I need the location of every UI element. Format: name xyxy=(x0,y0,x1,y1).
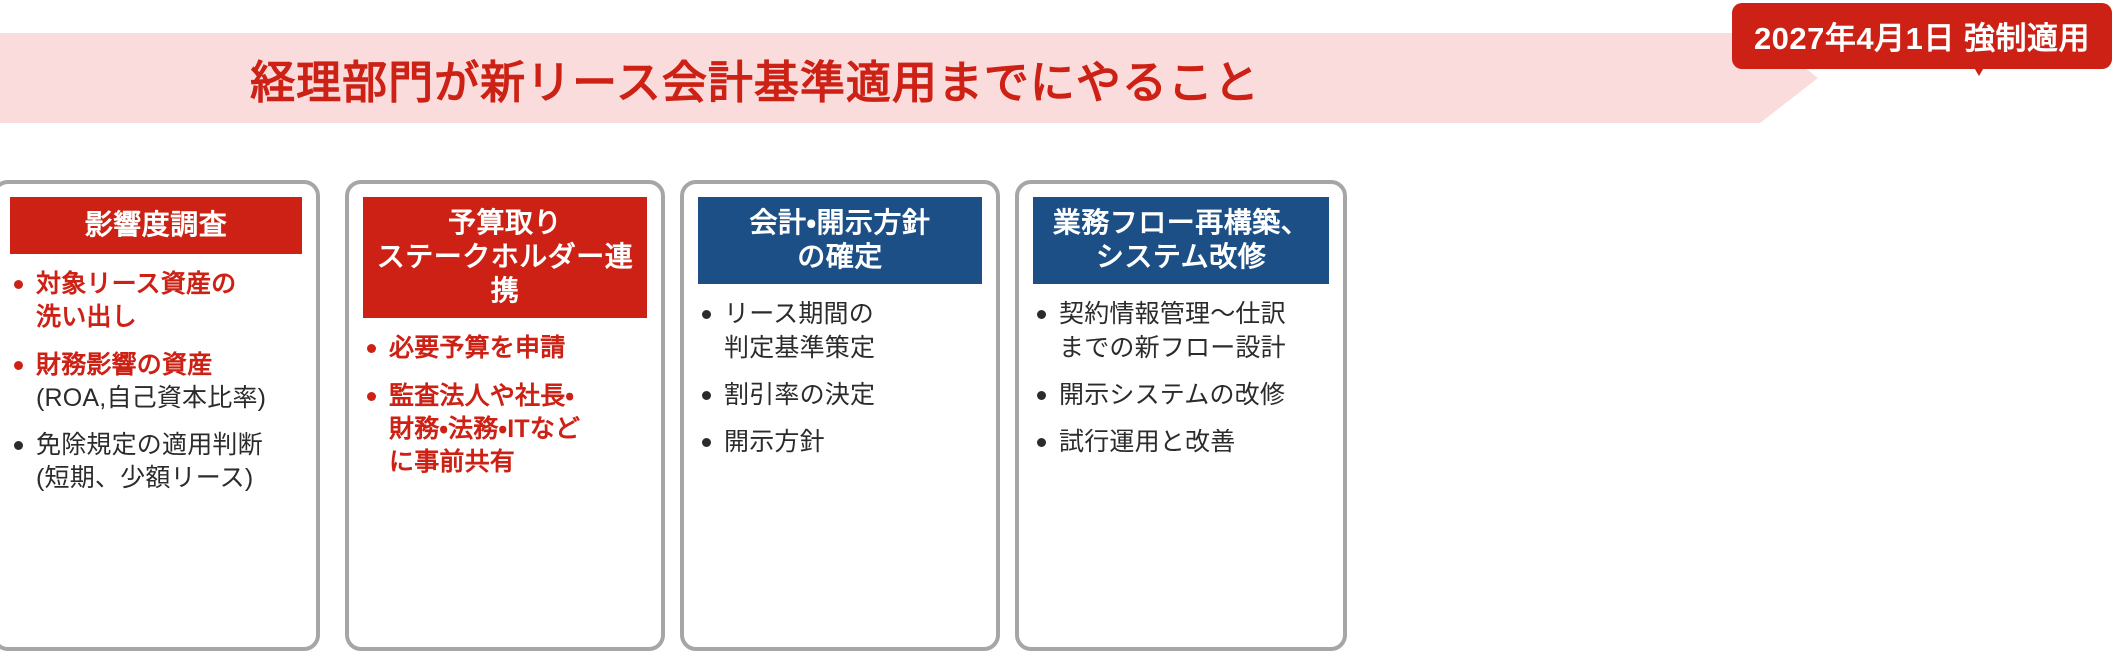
bullet-line: リース期間の xyxy=(724,300,874,328)
list-item: 開示方針 xyxy=(698,426,982,459)
header-banner: 経理部門が新リース会計基準適用までにやること xyxy=(0,33,1818,123)
bullet-subline: (ROA,自己資本比率) xyxy=(36,382,302,415)
card-grid: 影響度調査 対象リース資産の 洗い出し 財務影響の資産 (ROA,自己資本比率)… xyxy=(0,180,2124,663)
card-3-header-line2: の確定 xyxy=(797,241,883,272)
list-item: 契約情報管理～仕訳 までの新フロー設計 xyxy=(1033,298,1329,365)
card-3-header: 会計・開示方針 の確定 xyxy=(698,197,982,284)
list-item: 割引率の決定 xyxy=(698,379,982,412)
card-accounting-disclosure-policy[interactable]: 会計・開示方針 の確定 リース期間の 判定基準策定 割引率の決定 開示方針 xyxy=(680,180,1000,651)
list-item: 必要予算を申請 xyxy=(363,332,647,365)
card-4-header: 業務フロー再構築、 システム改修 xyxy=(1033,197,1329,284)
bullet-line: 割引率の決定 xyxy=(724,381,875,409)
bullet-line: 洗い出し xyxy=(36,303,137,331)
card-workflow-system-revision[interactable]: 業務フロー再構築、 システム改修 契約情報管理～仕訳 までの新フロー設計 開示シ… xyxy=(1015,180,1347,651)
card-impact-assessment[interactable]: 影響度調査 対象リース資産の 洗い出し 財務影響の資産 (ROA,自己資本比率)… xyxy=(0,180,320,651)
bullet-line: 対象リース資産の xyxy=(36,270,236,298)
card-budget-stakeholder[interactable]: 予算取り ステークホルダー連携 必要予算を申請 監査法人や社長・ 財務・法務・I… xyxy=(345,180,665,651)
bullet-line: 財務・法務・ITなど xyxy=(389,415,580,443)
bullet-line: 開示方針 xyxy=(724,428,825,456)
card-3-bullet-list: リース期間の 判定基準策定 割引率の決定 開示方針 xyxy=(698,284,982,459)
bullet-subline: (短期、少額リース) xyxy=(36,464,253,492)
bullet-line: までの新フロー設計 xyxy=(1059,334,1286,362)
bullet-line: 試行運用と改善 xyxy=(1059,428,1235,456)
card-2-header: 予算取り ステークホルダー連携 xyxy=(363,197,647,318)
list-item: 試行運用と改善 xyxy=(1033,426,1329,459)
card-4-bullet-list: 契約情報管理～仕訳 までの新フロー設計 開示システムの改修 試行運用と改善 xyxy=(1033,284,1329,459)
card-1-bullet-list: 対象リース資産の 洗い出し 財務影響の資産 (ROA,自己資本比率) 免除規定の… xyxy=(10,254,302,496)
list-item: 対象リース資産の 洗い出し xyxy=(10,268,302,335)
card-2-bullet-list: 必要予算を申請 監査法人や社長・ 財務・法務・ITなど に事前共有 xyxy=(363,318,647,479)
bullet-line: 判定基準策定 xyxy=(724,334,875,362)
card-4-header-line2: システム改修 xyxy=(1096,241,1266,272)
card-4-header-line1: 業務フロー再構築、 xyxy=(1053,207,1310,238)
list-item: 免除規定の適用判断 (短期、少額リース) xyxy=(10,429,302,496)
list-item: 監査法人や社長・ 財務・法務・ITなど に事前共有 xyxy=(363,380,647,480)
bullet-line: 必要予算を申請 xyxy=(389,334,565,362)
card-3-header-line1: 会計・開示方針 xyxy=(749,207,930,238)
deadline-badge: 2027年4月1日 強制適用 xyxy=(1732,3,2112,69)
bullet-line: 監査法人や社長・ xyxy=(389,382,574,410)
card-2-header-line1: 予算取り xyxy=(448,207,562,238)
page-title: 経理部門が新リース会計基準適用までにやること xyxy=(0,33,1510,123)
list-item: リース期間の 判定基準策定 xyxy=(698,298,982,365)
list-item: 開示システムの改修 xyxy=(1033,379,1329,412)
card-1-header: 影響度調査 xyxy=(10,197,302,254)
list-item: 財務影響の資産 (ROA,自己資本比率) xyxy=(10,349,302,416)
bullet-line: 開示システムの改修 xyxy=(1059,381,1285,409)
bullet-line: 免除規定の適用判断 xyxy=(36,431,263,459)
bullet-line: に事前共有 xyxy=(389,448,515,476)
bullet-line: 契約情報管理～仕訳 xyxy=(1059,300,1286,328)
card-2-header-line2: ステークホルダー連携 xyxy=(377,241,634,306)
bullet-line: 財務影響の資産 xyxy=(36,351,212,379)
